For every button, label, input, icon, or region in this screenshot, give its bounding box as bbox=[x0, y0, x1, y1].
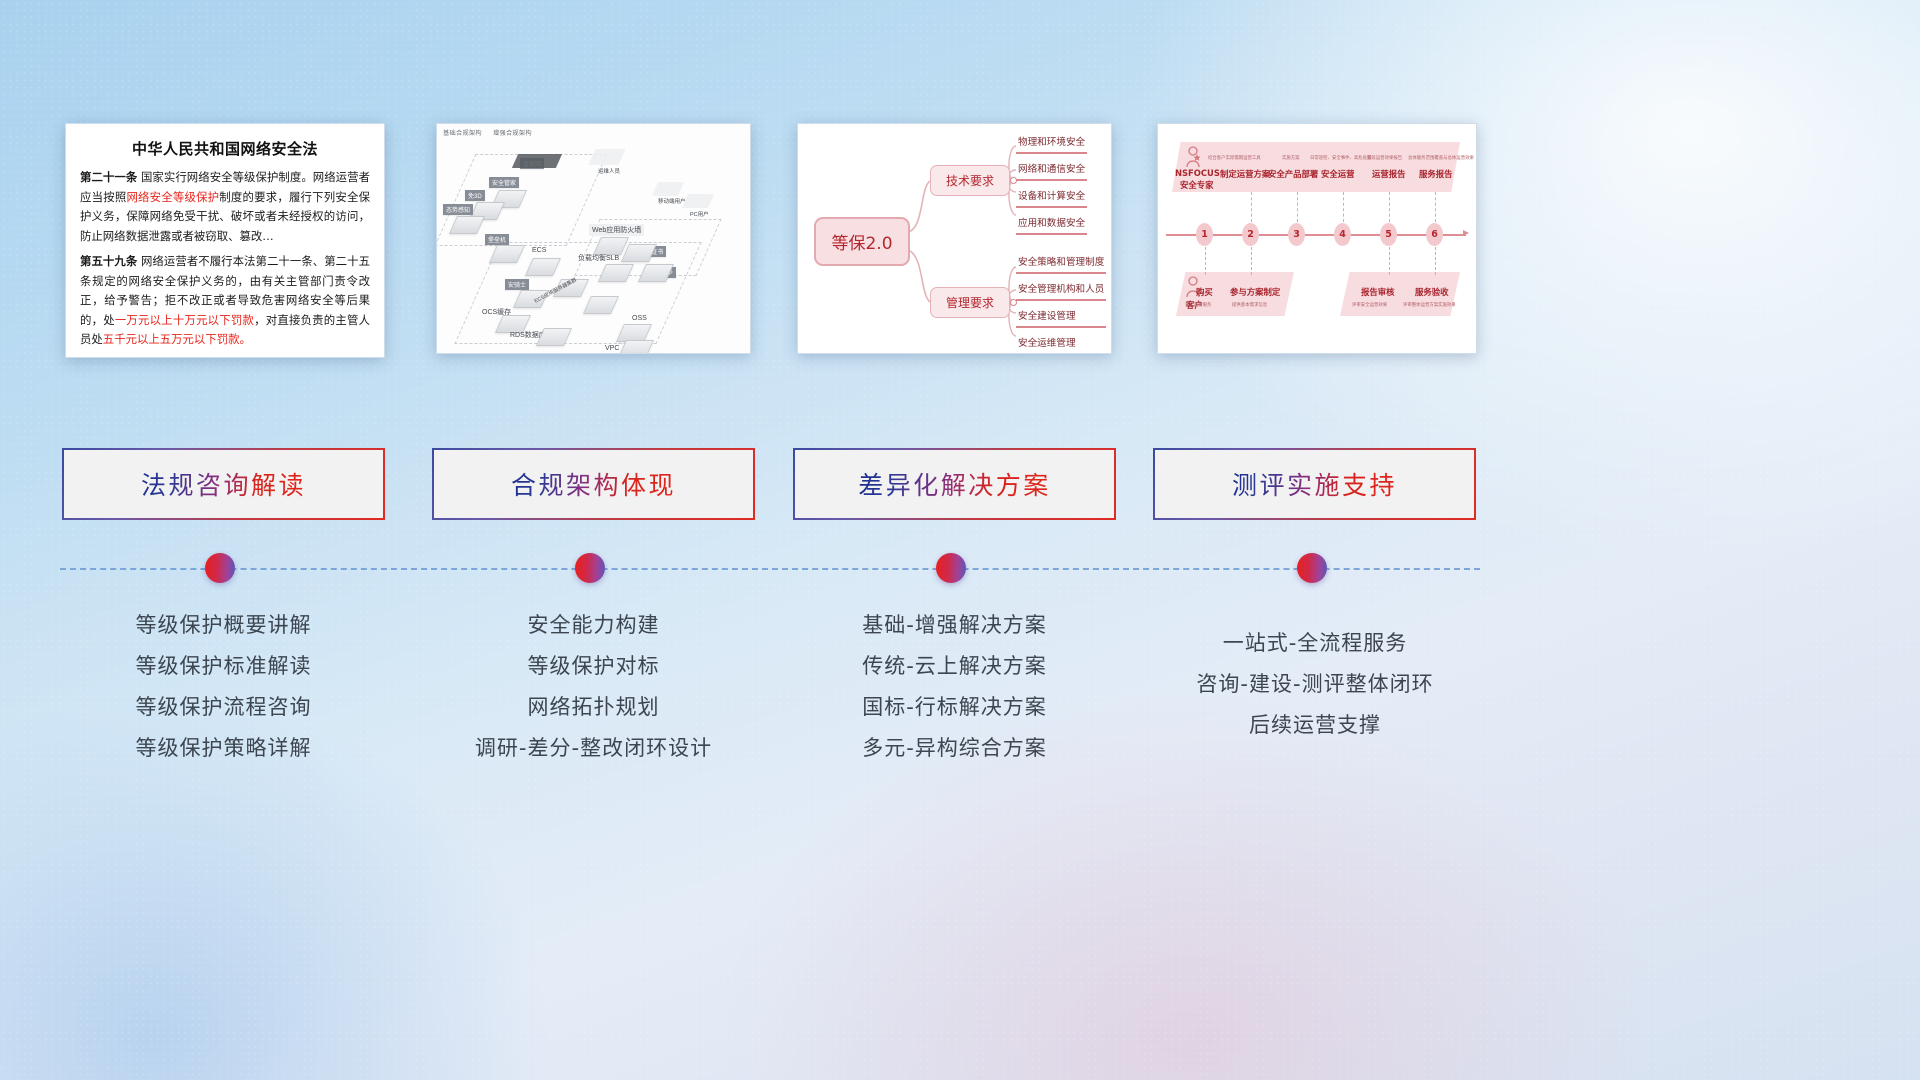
section-heading-3[interactable]: 差异化解决方案 bbox=[793, 448, 1116, 520]
mindmap-leaves-technical: 物理和环境安全 网络和通信安全 设备和计算安全 应用和数据安全 bbox=[1016, 134, 1087, 242]
timeline-step-node[interactable]: 1 bbox=[1196, 223, 1213, 246]
tab-enhanced-architecture[interactable]: 增强合规架构 bbox=[493, 130, 532, 137]
mindmap-leaf: 安全运维管理 bbox=[1016, 335, 1106, 354]
node-ecs: ECS bbox=[529, 246, 549, 255]
mindmap-leaf: 安全管理机构和人员 bbox=[1016, 281, 1106, 301]
timeline-step-node[interactable]: 5 bbox=[1380, 223, 1397, 246]
timeline-stem bbox=[1205, 247, 1206, 275]
card-service-timeline[interactable]: NSFOCUS 安全专家 客户 1 2 3 4 5 6 结合客户 bbox=[1157, 123, 1477, 354]
timeline-stem bbox=[1297, 192, 1298, 222]
list-item: 网络拓扑规划 bbox=[432, 687, 755, 728]
section-list-1: 等级保护概要讲解 等级保护标准解读 等级保护流程咨询 等级保护策略详解 bbox=[62, 605, 385, 769]
timeline-stem bbox=[1389, 192, 1390, 222]
timeline-step-title: 运营报告 bbox=[1372, 168, 1406, 180]
article-59-highlight-1: 一万元以上十万元以下罚款 bbox=[115, 313, 254, 327]
pad-ops-person bbox=[588, 149, 625, 165]
list-item: 等级保护标准解读 bbox=[62, 646, 385, 687]
law-document: 中华人民共和国网络安全法 第二十一条 国家实行网络安全等级保护制度。网络运营者应… bbox=[66, 124, 384, 357]
timeline-stem bbox=[1251, 247, 1252, 275]
section-heading-1[interactable]: 法规咨询解读 bbox=[62, 448, 385, 520]
section-heading-4[interactable]: 测评实施支持 bbox=[1153, 448, 1476, 520]
timeline-dashed-line bbox=[60, 568, 1480, 570]
timeline-step-sub: 实施方案 bbox=[1282, 155, 1300, 161]
timeline-step-sub: 结合客户实际需期运营工具 bbox=[1208, 155, 1261, 161]
list-item: 咨询-建设-测评整体闭环 bbox=[1145, 664, 1485, 705]
law-article-59: 第五十九条 网络运营者不履行本法第二十一条、第二十五条规定的网络安全保护义务的，… bbox=[80, 252, 370, 350]
timeline-top-banner bbox=[1172, 142, 1460, 192]
section-headings-row: 法规咨询解读 合规架构体现 差异化解决方案 测评实施支持 bbox=[0, 448, 1920, 520]
mindmap-leaf: 应用和数据安全 bbox=[1016, 215, 1087, 235]
list-item: 国标-行标解决方案 bbox=[793, 687, 1116, 728]
section-heading-label: 差异化解决方案 bbox=[858, 466, 1051, 502]
mindmap-leaf: 网络和通信安全 bbox=[1016, 161, 1087, 181]
mindmap: 等保2.0 技术要求 管理要求 物理和环境安全 网络和通信安全 设备和计算安全 … bbox=[798, 124, 1111, 353]
law-title: 中华人民共和国网络安全法 bbox=[80, 138, 370, 159]
architecture-tabs: 基础合规架构 增强合规架构 bbox=[443, 128, 541, 137]
timeline-step-node[interactable]: 4 bbox=[1334, 223, 1351, 246]
section-list-3: 基础-增强解决方案 传统-云上解决方案 国标-行标解决方案 多元-异构综合方案 bbox=[793, 605, 1116, 769]
list-item: 后续运营支撑 bbox=[1145, 705, 1485, 746]
timeline-step-sub: 评审整体运营方案实施效果 bbox=[1403, 302, 1456, 308]
pad-internet bbox=[512, 154, 562, 168]
list-item: 一站式-全流程服务 bbox=[1145, 623, 1485, 664]
section-heading-label: 测评实施支持 bbox=[1232, 466, 1397, 502]
node-anqishi: 安骑士 bbox=[505, 279, 529, 290]
pad-pc-user bbox=[682, 194, 714, 208]
progress-timeline bbox=[60, 567, 1480, 571]
mindmap-branch-management: 管理要求 bbox=[930, 287, 1010, 318]
architecture-diagram: 基础合规架构 增强合规架构 互联网 安全管家 免3D 态势感知 堡垒机 安骑士 … bbox=[437, 124, 750, 353]
node-vpc: VPC bbox=[602, 344, 622, 353]
timeline-step-title: 安全产品部署 bbox=[1268, 168, 1318, 180]
timeline-step-sub: 安全运营服务 bbox=[1185, 302, 1211, 308]
timeline-step-sub: 日常巡检、安全事件、高危处置 bbox=[1310, 155, 1371, 161]
list-item: 安全能力构建 bbox=[432, 605, 755, 646]
timeline-step-sub: 提供基本需求信息 bbox=[1232, 302, 1267, 308]
list-item: 等级保护策略详解 bbox=[62, 728, 385, 769]
node-slb: 负载均衡SLB bbox=[575, 252, 622, 264]
mindmap-leaf: 设备和计算安全 bbox=[1016, 188, 1087, 208]
node-free3d: 免3D bbox=[465, 190, 485, 201]
list-item: 传统-云上解决方案 bbox=[793, 646, 1116, 687]
expert-brand-label: NSFOCUS bbox=[1175, 168, 1220, 178]
node-ops-person: 运维人员 bbox=[595, 166, 623, 176]
timeline-step-title: 服务报告 bbox=[1419, 168, 1453, 180]
list-item: 等级保护对标 bbox=[432, 646, 755, 687]
service-timeline-diagram: NSFOCUS 安全专家 客户 1 2 3 4 5 6 结合客户 bbox=[1158, 124, 1476, 353]
mindmap-leaves-management: 安全策略和管理制度 安全管理机构和人员 安全建设管理 安全运维管理 bbox=[1016, 254, 1106, 354]
timeline-marker-4[interactable] bbox=[1297, 553, 1327, 583]
law-article-21: 第二十一条 国家实行网络安全等级保护制度。网络运营者应当按照网络安全等级保护制度… bbox=[80, 168, 370, 246]
timeline-stem bbox=[1251, 192, 1252, 222]
timeline-step-node[interactable]: 2 bbox=[1242, 223, 1259, 246]
list-item: 基础-增强解决方案 bbox=[793, 605, 1116, 646]
node-security-butler: 安全管家 bbox=[489, 177, 519, 188]
timeline-stem bbox=[1435, 192, 1436, 222]
node-situation-awareness: 态势感知 bbox=[443, 204, 473, 215]
timeline-step-title: 参与方案制定 bbox=[1230, 286, 1280, 298]
section-heading-label: 合规架构体现 bbox=[511, 466, 676, 502]
list-item: 多元-异构综合方案 bbox=[793, 728, 1116, 769]
mindmap-branch-technical: 技术要求 bbox=[930, 165, 1010, 196]
timeline-step-title: 报告审核 bbox=[1361, 286, 1395, 298]
timeline-step-node[interactable]: 6 bbox=[1426, 223, 1443, 246]
expert-role-label: 安全专家 bbox=[1180, 179, 1214, 191]
timeline-marker-1[interactable] bbox=[205, 553, 235, 583]
article-59-highlight-2: 五千元以上五万元以下罚款。 bbox=[103, 332, 251, 346]
node-bastion-host: 堡垒机 bbox=[485, 234, 509, 245]
reference-cards-row: 中华人民共和国网络安全法 第二十一条 国家实行网络安全等级保护制度。网络运营者应… bbox=[0, 123, 1920, 363]
mindmap-leaf: 安全策略和管理制度 bbox=[1016, 254, 1106, 274]
node-oss: OSS bbox=[629, 314, 650, 323]
card-cybersecurity-law[interactable]: 中华人民共和国网络安全法 第二十一条 国家实行网络安全等级保护制度。网络运营者应… bbox=[65, 123, 385, 358]
section-list-2: 安全能力构建 等级保护对标 网络拓扑规划 调研-差分-整改闭环设计 bbox=[432, 605, 755, 769]
node-pc-user: PC用户 bbox=[687, 209, 712, 219]
expert-avatar-icon bbox=[1184, 146, 1202, 168]
list-item: 等级保护概要讲解 bbox=[62, 605, 385, 646]
tab-basic-architecture[interactable]: 基础合规架构 bbox=[443, 130, 482, 137]
card-compliance-architecture[interactable]: 基础合规架构 增强合规架构 互联网 安全管家 免3D 态势感知 堡垒机 安骑士 … bbox=[436, 123, 751, 354]
list-item: 调研-差分-整改闭环设计 bbox=[432, 728, 755, 769]
section-list-4: 一站式-全流程服务 咨询-建设-测评整体闭环 后续运营支撑 bbox=[1145, 605, 1485, 746]
timeline-step-sub: 阶段运营效果报告 bbox=[1367, 155, 1402, 161]
mindmap-root: 等保2.0 bbox=[814, 217, 910, 266]
mindmap-leaf: 安全建设管理 bbox=[1016, 308, 1106, 328]
timeline-step-title: 服务验收 bbox=[1415, 286, 1449, 298]
timeline-stem bbox=[1343, 192, 1344, 222]
timeline-arrow-icon bbox=[1463, 230, 1469, 236]
timeline-step-title: 制定运营方案 bbox=[1220, 168, 1270, 180]
timeline-marker-2[interactable] bbox=[575, 553, 605, 583]
list-item: 等级保护流程咨询 bbox=[62, 687, 385, 728]
timeline-step-title: 购买 bbox=[1196, 286, 1213, 298]
mindmap-leaf: 物理和环境安全 bbox=[1016, 134, 1087, 154]
article-21-highlight: 网络安全等级保护 bbox=[126, 190, 219, 204]
pad-mobile-user bbox=[652, 182, 684, 196]
article-21-label: 第二十一条 bbox=[80, 170, 137, 184]
timeline-step-sub: 总体服务范围覆盖与总体运营效果 bbox=[1408, 155, 1474, 161]
timeline-step-node[interactable]: 3 bbox=[1288, 223, 1305, 246]
timeline-marker-3[interactable] bbox=[936, 553, 966, 583]
timeline-stem bbox=[1389, 247, 1390, 275]
timeline-step-sub: 评审安全运营效果 bbox=[1352, 302, 1387, 308]
card-dengbao-mindmap[interactable]: 等保2.0 技术要求 管理要求 物理和环境安全 网络和通信安全 设备和计算安全 … bbox=[797, 123, 1112, 354]
timeline-step-title: 安全运营 bbox=[1321, 168, 1355, 180]
section-heading-2[interactable]: 合规架构体现 bbox=[432, 448, 755, 520]
node-waf: Web应用防火墙 bbox=[589, 224, 644, 236]
section-details-row: 等级保护概要讲解 等级保护标准解读 等级保护流程咨询 等级保护策略详解 安全能力… bbox=[0, 605, 1920, 825]
section-heading-label: 法规咨询解读 bbox=[141, 466, 306, 502]
article-59-label: 第五十九条 bbox=[80, 254, 137, 268]
timeline-stem bbox=[1435, 247, 1436, 275]
